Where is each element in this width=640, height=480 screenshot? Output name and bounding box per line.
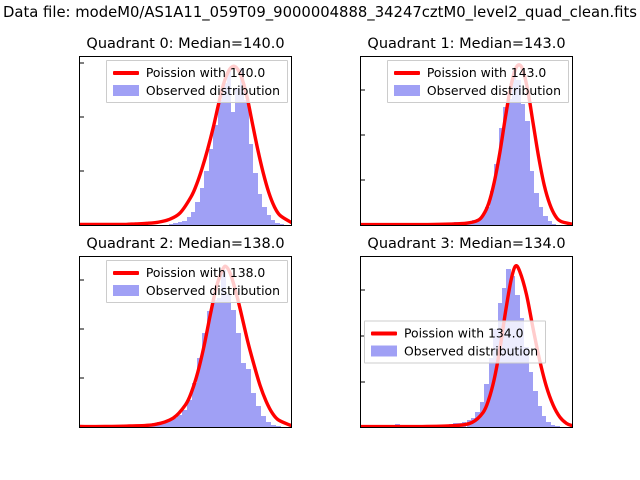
legend-line-swatch-icon xyxy=(113,71,139,75)
legend-row: Observed distribution xyxy=(113,83,280,98)
legend-line-swatch-icon xyxy=(113,271,139,275)
legend-patch-swatch-icon xyxy=(113,85,139,96)
legend-label: Poission with 143.0 xyxy=(427,65,546,80)
subplot-quadrant-0: Quadrant 0: Median=140.0 010020030010015… xyxy=(79,56,292,226)
legend-quadrant-3[interactable]: Poission with 134.0Observed distribution xyxy=(364,321,546,364)
legend-label: Observed distribution xyxy=(404,344,538,359)
legend-label: Poission with 138.0 xyxy=(146,265,265,280)
plot-area-quadrant-1: 010020030050100150Poission with 143.0Obs… xyxy=(361,57,572,225)
matplotlib-figure: Data file: modeM0/AS1A11_059T09_90000048… xyxy=(0,0,640,480)
legend-row: Poission with 143.0 xyxy=(394,65,561,80)
subplot-title-quadrant-3: Quadrant 3: Median=134.0 xyxy=(361,236,572,252)
legend-label: Poission with 134.0 xyxy=(404,326,523,341)
legend-line-swatch-icon xyxy=(394,71,420,75)
plot-area-quadrant-2: 010020030050100150Poission with 138.0Obs… xyxy=(80,257,291,427)
subplot-quadrant-1: Quadrant 1: Median=143.0 010020030050100… xyxy=(360,56,573,226)
legend-patch-swatch-icon xyxy=(371,346,397,357)
legend-quadrant-2[interactable]: Poission with 138.0Observed distribution xyxy=(106,260,288,303)
subplot-quadrant-2: Quadrant 2: Median=138.0 010020030050100… xyxy=(79,256,292,428)
figure-suptitle: Data file: modeM0/AS1A11_059T09_90000048… xyxy=(0,4,640,21)
subplot-title-quadrant-0: Quadrant 0: Median=140.0 xyxy=(80,36,291,52)
legend-quadrant-1[interactable]: Poission with 143.0Observed distribution xyxy=(387,60,569,103)
legend-row: Observed distribution xyxy=(113,283,280,298)
subplot-title-quadrant-2: Quadrant 2: Median=138.0 xyxy=(80,236,291,252)
legend-label: Observed distribution xyxy=(427,83,561,98)
legend-label: Observed distribution xyxy=(146,83,280,98)
legend-label: Poission with 140.0 xyxy=(146,65,265,80)
subplot-title-quadrant-1: Quadrant 1: Median=143.0 xyxy=(361,36,572,52)
legend-line-swatch-icon xyxy=(371,331,397,335)
legend-quadrant-0[interactable]: Poission with 140.0Observed distribution xyxy=(106,60,288,103)
plot-area-quadrant-0: 0100200300100150Poission with 140.0Obser… xyxy=(80,57,291,225)
legend-row: Observed distribution xyxy=(371,344,538,359)
legend-row: Poission with 140.0 xyxy=(113,65,280,80)
legend-label: Observed distribution xyxy=(146,283,280,298)
legend-row: Observed distribution xyxy=(394,83,561,98)
legend-row: Poission with 138.0 xyxy=(113,265,280,280)
legend-patch-swatch-icon xyxy=(394,85,420,96)
figure-suptitle-text: Data file: modeM0/AS1A11_059T09_90000048… xyxy=(3,4,637,21)
legend-patch-swatch-icon xyxy=(113,285,139,296)
plot-area-quadrant-3: 0100200300050100150Poission with 134.0Ob… xyxy=(361,257,572,427)
subplot-quadrant-3: Quadrant 3: Median=134.0 010020030005010… xyxy=(360,256,573,428)
legend-row: Poission with 134.0 xyxy=(371,326,538,341)
